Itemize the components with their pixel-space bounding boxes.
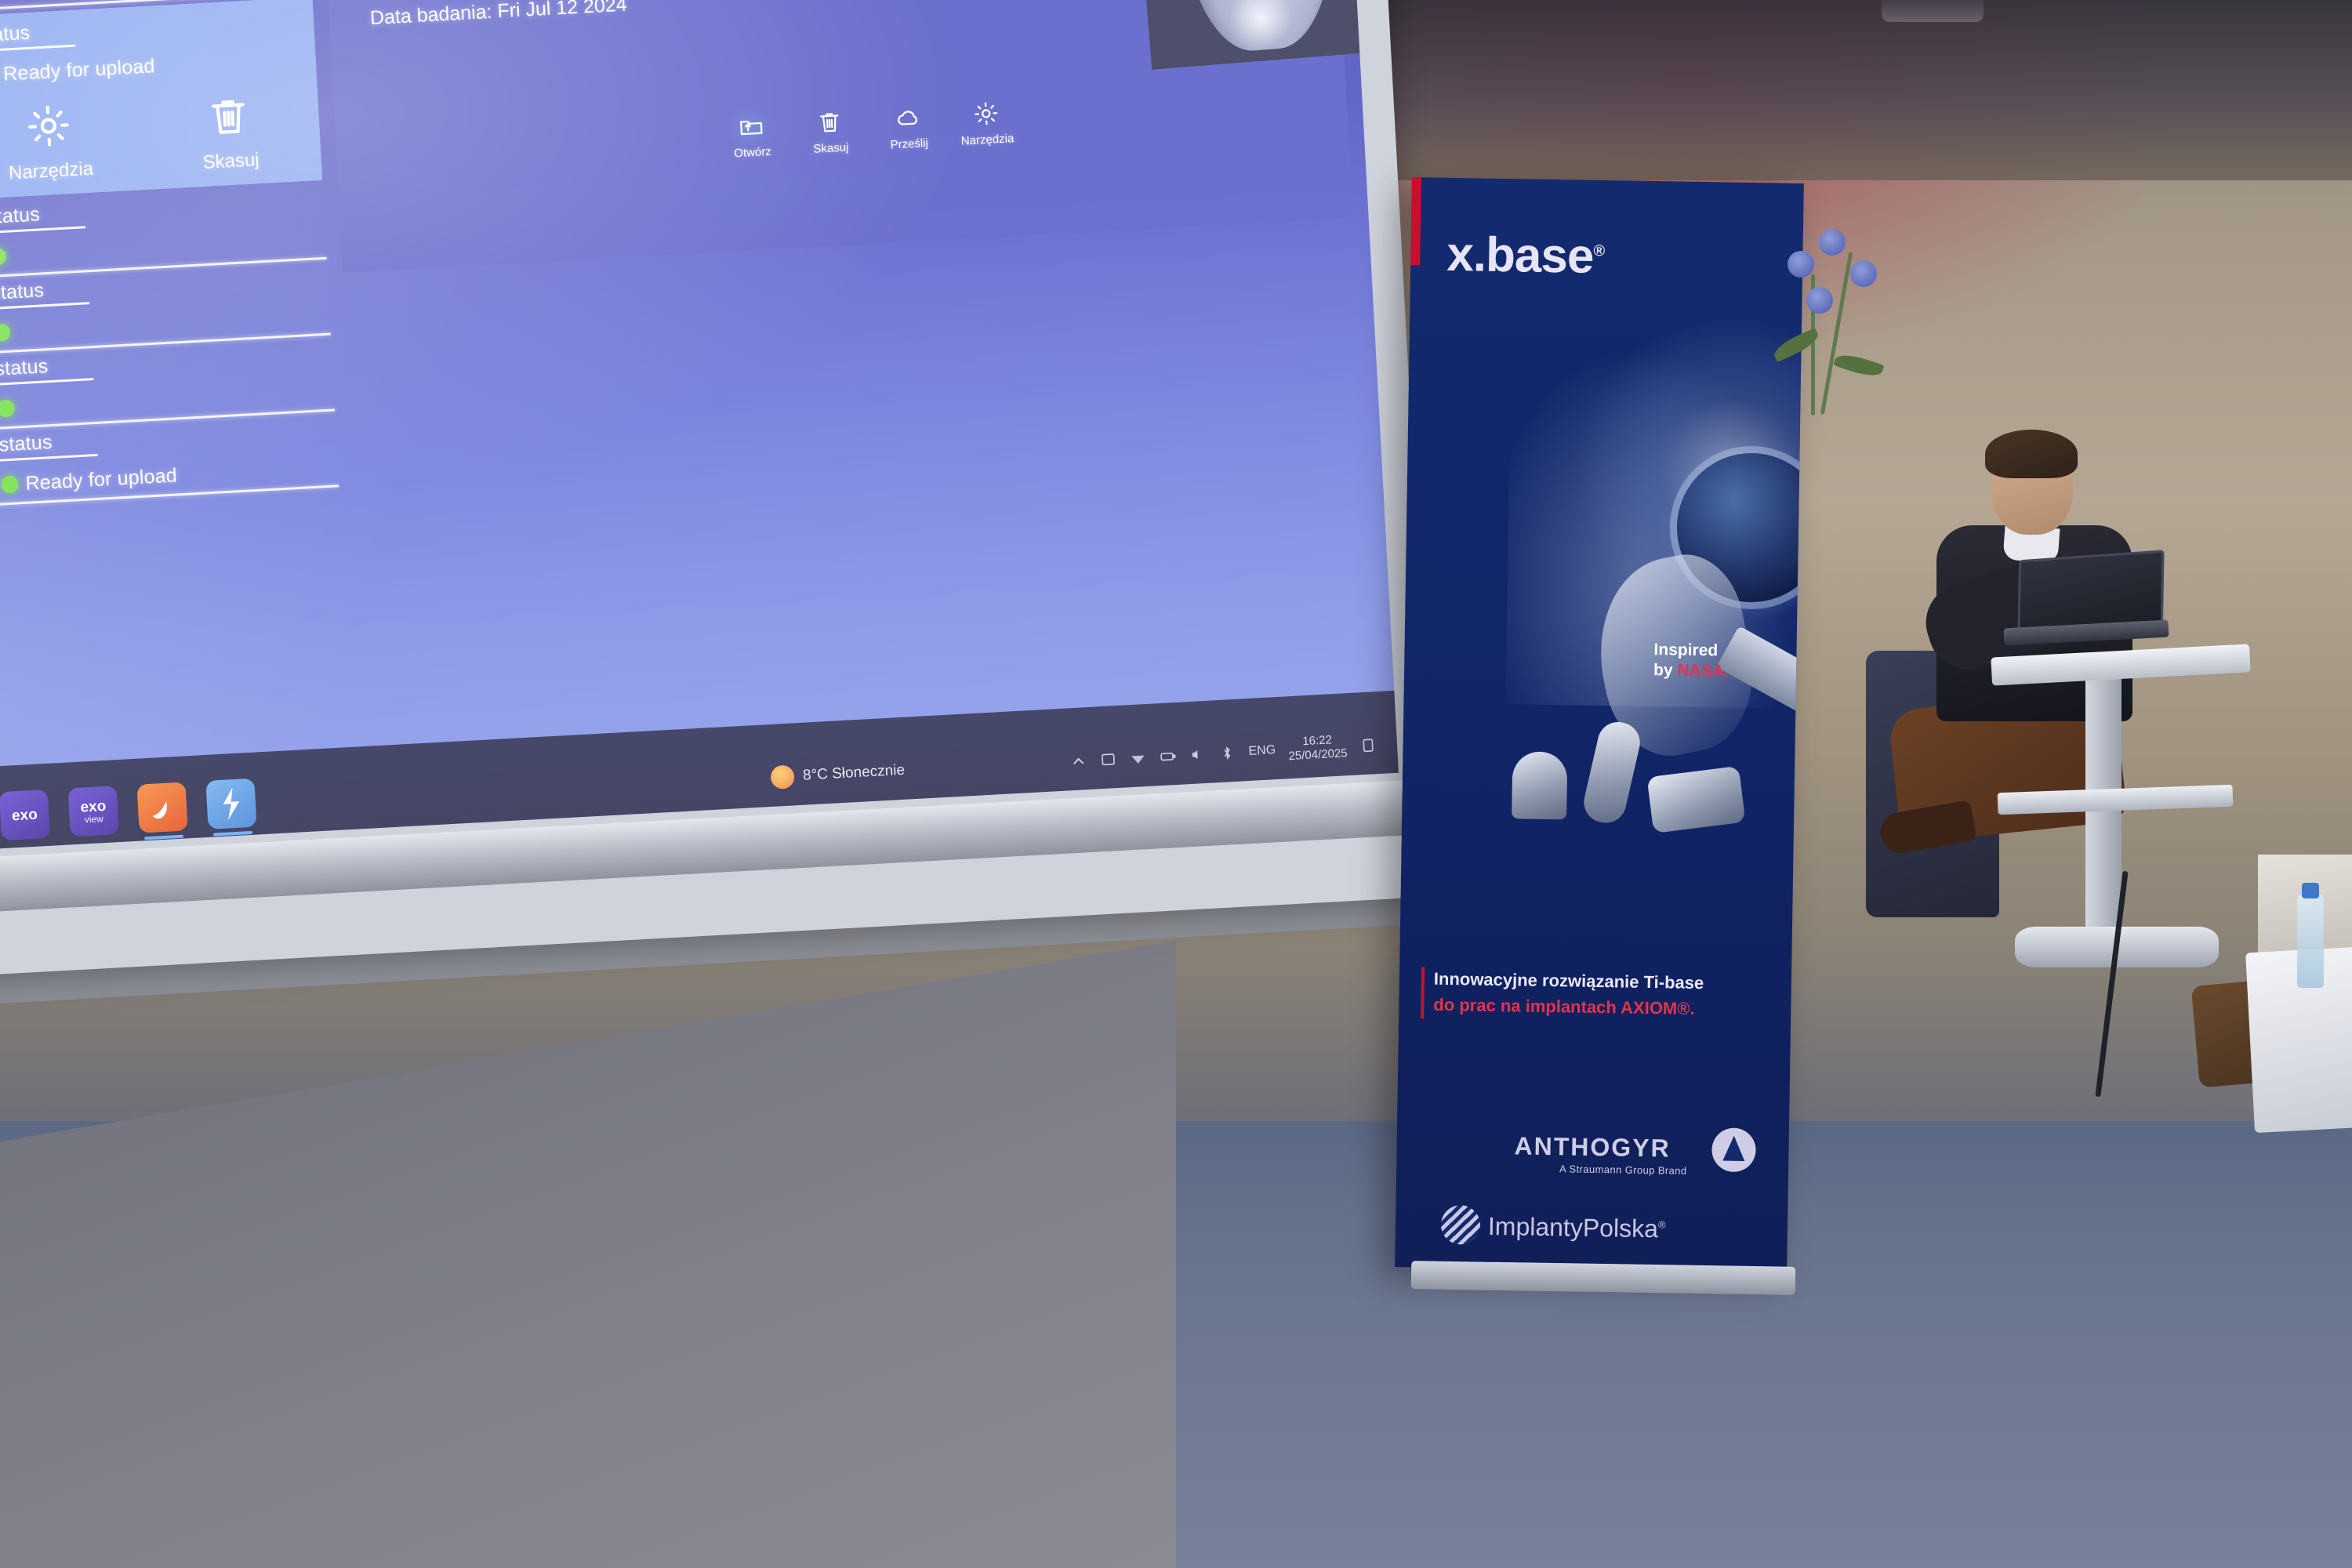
presenter-hair [1985, 430, 2078, 478]
system-tray: ENG 16:22 25/04/2025 [1069, 731, 1377, 777]
status-text: Ready for upload [2, 55, 155, 85]
banner-base-foot [1411, 1261, 1796, 1295]
upload-button[interactable]: Prześlij [868, 103, 949, 153]
status-badge [0, 234, 248, 266]
bluetooth-icon[interactable] [1218, 744, 1236, 762]
taskbar-app-orange-icon[interactable] [136, 782, 187, 833]
implantypolska-wordmark: ImplantyPolska [1488, 1212, 1659, 1243]
row-action-toolbar: Udostęp...acjenta Narzędzia [0, 77, 321, 197]
taskbar-weather-widget[interactable]: 8°C Słonecznie [770, 759, 905, 789]
trash-icon [815, 108, 844, 136]
nasa-tagline: Inspired by NASA. [1653, 640, 1730, 682]
banner-claim: Innowacyjne rozwiązanie Ti-base do prac … [1433, 966, 1763, 1023]
ceiling-fixture [1882, 0, 1984, 22]
col-header-status: status [0, 429, 98, 462]
tagline-by: by [1653, 661, 1673, 679]
implant-component-1 [1512, 751, 1567, 819]
clock-date: 25/04/2025 [1288, 746, 1348, 764]
input-language[interactable]: ENG [1248, 743, 1276, 759]
screen-surface: żytkownik status a użytkownik [0, 0, 1399, 861]
col-header-status: status [0, 201, 85, 234]
taskbar-clock[interactable]: 16:22 25/04/2025 [1287, 732, 1348, 765]
taskbar-app-exoview-icon[interactable]: exo view [68, 786, 119, 837]
status-badge [0, 310, 252, 342]
col-header-status: status [0, 353, 94, 386]
status-dot-icon [0, 324, 11, 342]
anthogyr-mark-icon [1711, 1127, 1756, 1172]
weather-text: 8°C Słonecznie [803, 762, 906, 785]
taskbar-app-exoview-label: exo [80, 798, 107, 815]
status-badge: Ready for upload [0, 50, 238, 87]
col-header-status: status [0, 277, 89, 310]
gear-icon [972, 100, 1000, 128]
anthogyr-wordmark: ANTHOGYR [1514, 1131, 1671, 1162]
anthogyr-subline: A Straumann Group Brand [1559, 1163, 1687, 1177]
tools-button[interactable]: Narzędzia [0, 97, 142, 187]
water-bottle-cap [2302, 883, 2319, 898]
notifications-icon[interactable] [1359, 736, 1377, 754]
delete-button[interactable]: Skasuj [137, 88, 321, 177]
implantypolska-logo: ImplantyPolska® [1488, 1212, 1666, 1244]
delete-button[interactable]: Skasuj [789, 107, 870, 157]
gear-icon [0, 97, 140, 165]
tagline-nasa: NASA. [1677, 662, 1729, 681]
list-item-selected[interactable]: a użytkownik status Ready for upload [0, 0, 322, 209]
record-list: żytkownik status a użytkownik [0, 0, 354, 780]
implantypolska-registered-mark: ® [1658, 1219, 1666, 1231]
claim-accent-bar [1421, 967, 1425, 1018]
open-label: Otwórz [713, 143, 793, 161]
status-text: Ready for upload [25, 464, 178, 495]
dicom-metadata: Wymiary: 600x600 Rozmiar piksela: 0.200x… [358, 0, 688, 32]
wifi-icon[interactable] [1129, 749, 1147, 767]
lectern [1991, 651, 2250, 1004]
sound-icon[interactable] [1189, 746, 1207, 764]
implant-components-photo [1495, 720, 1756, 880]
projection-screen: żytkownik status a użytkownik [0, 0, 1437, 986]
delete-label: Skasuj [791, 140, 870, 157]
battery-icon[interactable] [1159, 747, 1177, 765]
dicom-preview-thumbnail[interactable] [1131, 0, 1371, 70]
water-bottle [2297, 894, 2324, 988]
banner-logo: x.base® [1446, 227, 1605, 285]
anthogyr-logo: ANTHOGYR A Straumann Group Brand [1514, 1131, 1687, 1176]
open-button[interactable]: Otwórz [711, 111, 792, 161]
upload-label: Prześlij [869, 136, 949, 153]
taskbar-app-exocad-icon[interactable]: exo [0, 789, 50, 840]
tagline-inspired: Inspired [1653, 640, 1729, 662]
taskbar-app-exocad-label: exo [0, 789, 50, 840]
status-badge [0, 387, 256, 418]
tools-label: Narzędzia [948, 131, 1027, 148]
list-item[interactable]: ostatnia...yfikacja użytkownik status 07… [0, 416, 339, 516]
claim-line-2: do prac na implantach AXIOM®. [1433, 992, 1762, 1023]
taskbar-app-exoview-sublabel: view [84, 814, 103, 824]
meta-line-study-date: Data badania: Fri Jul 12 2024 [369, 0, 688, 32]
lectern-shelf [1998, 785, 2234, 815]
sun-icon [770, 764, 795, 789]
banner-logo-text: x.base [1446, 227, 1594, 284]
implant-component-3 [1647, 766, 1746, 833]
col-header-status: status [0, 20, 75, 53]
flower-arrangement-left [1740, 220, 1921, 439]
chevron-up-icon[interactable] [1069, 752, 1087, 770]
onedrive-icon[interactable] [1099, 750, 1117, 768]
status-dot-icon [0, 400, 15, 418]
trash-icon [137, 88, 321, 155]
detail-action-toolbar: Otwórz Skasuj Prześlij [711, 98, 1027, 162]
status-dot-icon [1, 475, 19, 493]
folder-open-icon [737, 112, 765, 140]
tools-button[interactable]: Narzędzia [946, 98, 1027, 148]
implant-component-2 [1580, 718, 1644, 827]
wall-upper-shadow [1286, 0, 2352, 180]
status-dot-icon [0, 248, 6, 266]
cloud-upload-icon [894, 103, 922, 132]
taskbar-app-blue-active-icon[interactable] [205, 779, 256, 829]
banner-logo-registered-mark: ® [1593, 242, 1604, 260]
implantypolska-mark-icon [1441, 1205, 1481, 1245]
